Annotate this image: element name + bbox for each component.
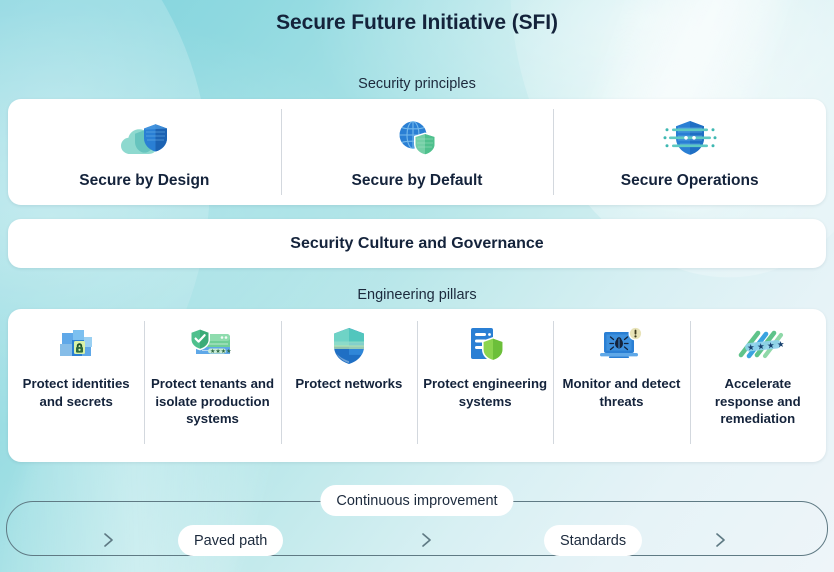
security-principles-card: Secure by Design bbox=[8, 99, 826, 205]
page-title: Secure Future Initiative (SFI) bbox=[0, 11, 834, 35]
governance-label: Security Culture and Governance bbox=[290, 235, 543, 253]
pillar-protect-tenants[interactable]: ★★★★ Protect tenants and isolate product… bbox=[144, 309, 280, 462]
pillar-label: Accelerate response and remediation bbox=[690, 375, 826, 428]
globe-shield-icon bbox=[391, 115, 443, 163]
identity-lock-icon bbox=[56, 323, 96, 367]
sfi-infographic: Secure Future Initiative (SFI) Security … bbox=[0, 0, 834, 572]
pillar-accelerate-response[interactable]: ★ ★ ★ ★ Accelerate response and remediat… bbox=[690, 309, 826, 462]
principle-label: Secure Operations bbox=[621, 172, 759, 190]
security-culture-governance-card: Security Culture and Governance bbox=[8, 219, 826, 268]
shield-datalines-icon bbox=[661, 115, 719, 163]
pillar-label: Protect networks bbox=[289, 375, 408, 393]
server-shield-icon bbox=[463, 323, 507, 367]
pill-continuous-improvement[interactable]: Continuous improvement bbox=[320, 485, 513, 516]
pillar-protect-engineering[interactable]: Protect engineering systems bbox=[417, 309, 553, 462]
laptop-bug-alert-icon bbox=[597, 323, 645, 367]
speed-lines-stars-icon: ★ ★ ★ ★ bbox=[732, 323, 784, 367]
principle-secure-operations[interactable]: Secure Operations bbox=[553, 99, 826, 205]
section-label-principles: Security principles bbox=[0, 76, 834, 92]
pill-standards[interactable]: Standards bbox=[544, 525, 642, 556]
pillar-label: Monitor and detect threats bbox=[553, 375, 689, 410]
pillar-label: Protect engineering systems bbox=[417, 375, 553, 410]
principle-secure-by-default[interactable]: Secure by Default bbox=[281, 99, 554, 205]
pillar-label: Protect identities and secrets bbox=[8, 375, 144, 410]
pillar-protect-networks[interactable]: Protect networks bbox=[281, 309, 417, 462]
pillar-monitor-threats[interactable]: Monitor and detect threats bbox=[553, 309, 689, 462]
network-shield-icon bbox=[328, 323, 370, 367]
section-label-pillars: Engineering pillars bbox=[0, 287, 834, 303]
pill-paved-path[interactable]: Paved path bbox=[178, 525, 283, 556]
engineering-pillars-card: Protect identities and secrets bbox=[8, 309, 826, 462]
cloud-shield-icon bbox=[117, 115, 171, 163]
principle-label: Secure by Design bbox=[79, 172, 209, 190]
continuous-improvement-loop: Continuous improvement Paved path Standa… bbox=[6, 501, 828, 556]
pillar-protect-identities[interactable]: Protect identities and secrets bbox=[8, 309, 144, 462]
principle-secure-by-design[interactable]: Secure by Design bbox=[8, 99, 281, 205]
tenant-shield-card-icon: ★★★★ bbox=[188, 323, 236, 367]
principle-label: Secure by Default bbox=[352, 172, 483, 190]
pillar-label: Protect tenants and isolate production s… bbox=[144, 375, 280, 428]
svg-text:★★★★: ★★★★ bbox=[210, 348, 232, 355]
